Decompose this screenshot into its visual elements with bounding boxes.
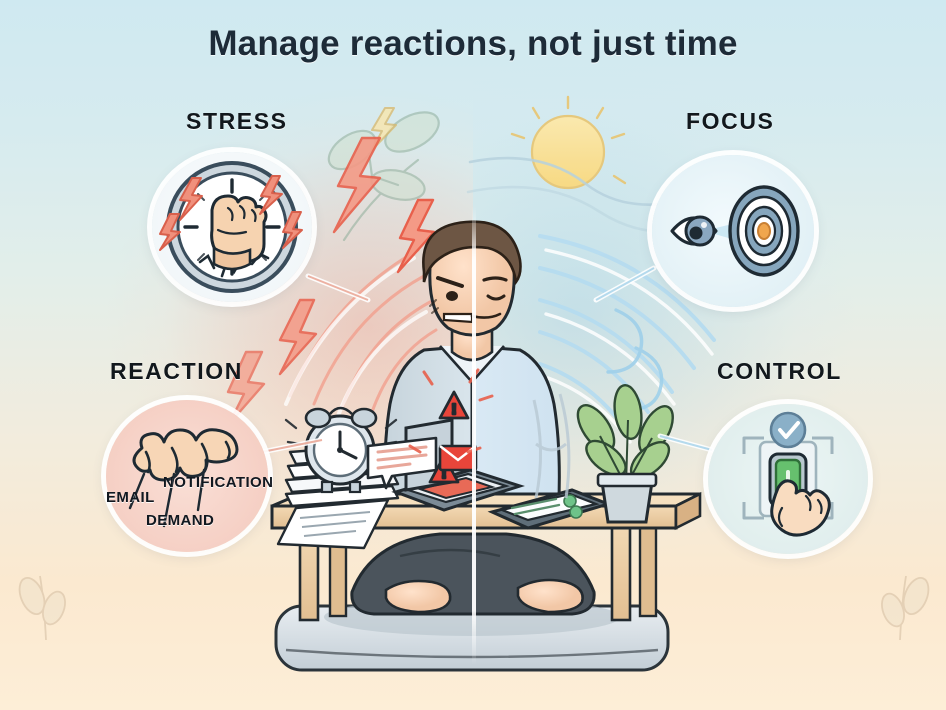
split-divider — [472, 205, 476, 665]
eye-on-target-icon — [652, 155, 814, 307]
puppet-string-label-email: EMAIL — [106, 489, 155, 506]
fist-breaking-clock-icon — [152, 152, 312, 302]
hand-pressing-switch-icon — [708, 404, 868, 554]
puppet-string-label-notification: NOTIFICATION — [163, 474, 273, 491]
quadrant-label-focus: FOCUS — [686, 108, 775, 135]
quadrant-label-reaction: REACTION — [110, 358, 243, 385]
quadrant-label-stress: STRESS — [186, 108, 288, 135]
badge-control — [708, 404, 868, 554]
badge-focus — [652, 155, 814, 307]
badge-stress — [152, 152, 312, 302]
puppet-string-label-demand: DEMAND — [146, 512, 214, 529]
quadrant-label-control: CONTROL — [717, 358, 842, 385]
illustration-canvas: ! ! — [0, 0, 946, 710]
page-title: Manage reactions, not just time — [0, 24, 946, 64]
